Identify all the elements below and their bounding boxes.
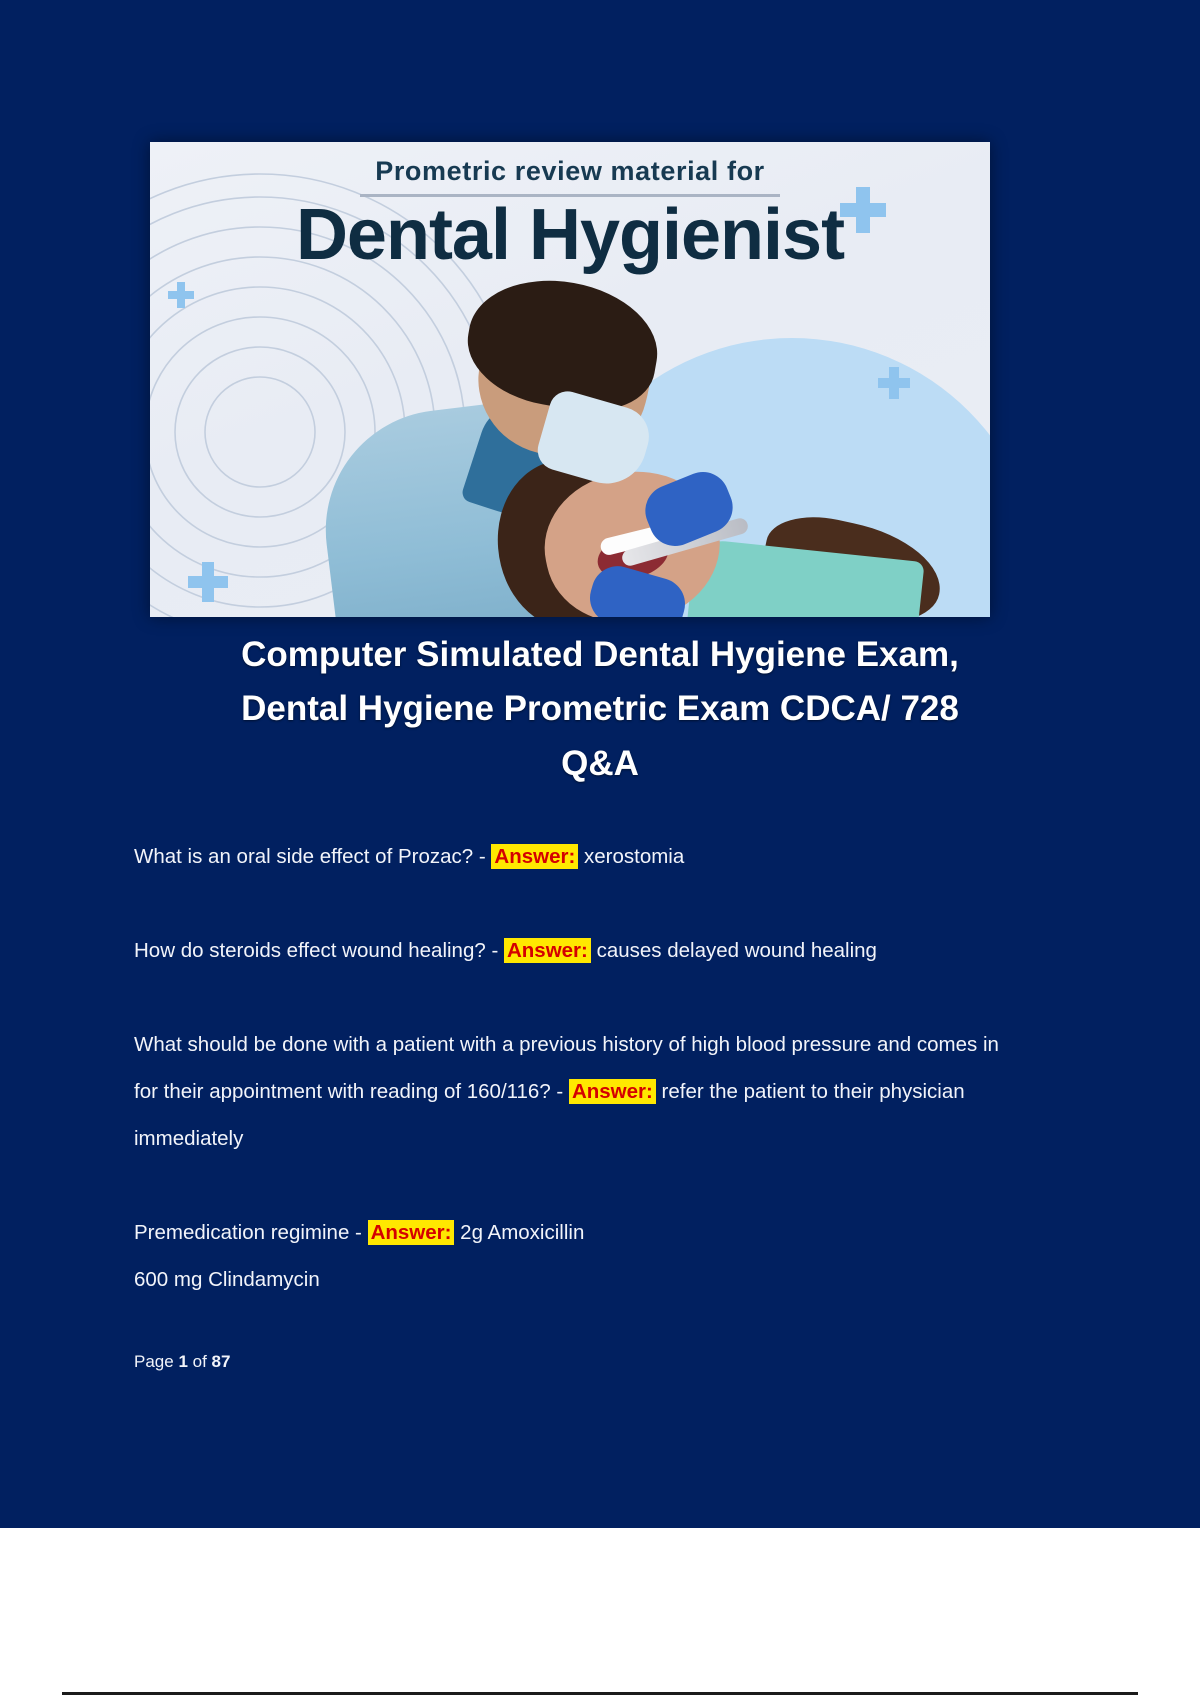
qa-question: What is an oral side effect of Prozac? -: [134, 845, 491, 868]
answer-label: Answer:: [368, 1220, 455, 1245]
answer-label: Answer:: [504, 938, 591, 963]
page-title-line: Dental Hygiene Prometric Exam CDCA/ 728: [120, 682, 1080, 736]
footer-total-pages: 87: [212, 1352, 231, 1371]
page-title-line: Computer Simulated Dental Hygiene Exam,: [120, 628, 1080, 682]
footer-middle: of: [188, 1352, 212, 1371]
qa-answer: causes delayed wound healing: [591, 939, 877, 962]
cover-title: Dental Hygienist: [150, 194, 990, 276]
page-footer: Page 1 of 87: [134, 1352, 230, 1372]
qa-answer-extra: 600 mg Clindamycin: [134, 1256, 1014, 1303]
qa-item: What is an oral side effect of Prozac? -…: [134, 833, 1014, 880]
cover-subtitle: Prometric review material for: [150, 156, 990, 187]
qa-question: Premedication regimine -: [134, 1221, 368, 1244]
qa-question: How do steroids effect wound healing? -: [134, 939, 504, 962]
below-page-area: [0, 1528, 1200, 1700]
cover-image: Prometric review material for Dental Hyg…: [150, 142, 990, 617]
page-title: Computer Simulated Dental Hygiene Exam, …: [120, 628, 1080, 791]
answer-label: Answer:: [491, 844, 578, 869]
bottom-divider: [62, 1692, 1138, 1695]
qa-answer: xerostomia: [578, 845, 684, 868]
answer-label: Answer:: [569, 1079, 656, 1104]
footer-current-page: 1: [178, 1352, 187, 1371]
page-title-line: Q&A: [120, 737, 1080, 791]
footer-prefix: Page: [134, 1352, 178, 1371]
qa-item: How do steroids effect wound healing? - …: [134, 927, 1014, 974]
qa-content: What is an oral side effect of Prozac? -…: [134, 833, 1014, 1350]
document-page: Prometric review material for Dental Hyg…: [0, 0, 1200, 1528]
qa-item: What should be done with a patient with …: [134, 1021, 1014, 1162]
qa-item: Premedication regimine - Answer: 2g Amox…: [134, 1209, 1014, 1303]
qa-answer: 2g Amoxicillin: [454, 1221, 584, 1244]
